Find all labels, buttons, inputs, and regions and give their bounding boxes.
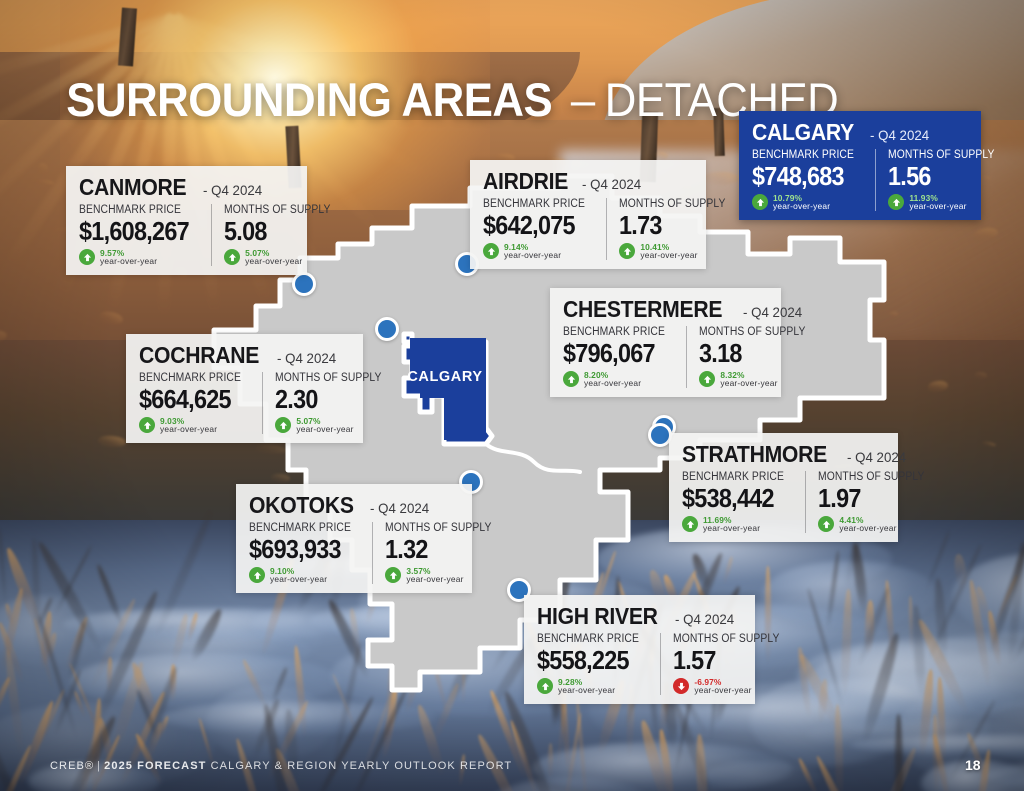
- page-title: SURROUNDING AREAS – DETACHED: [48, 72, 847, 127]
- card-metrics: BENCHMARK PRICE $1,608,267 9.57% year-ov…: [79, 204, 294, 266]
- yoy-sublabel: year-over-year: [100, 257, 157, 266]
- arrow-up-icon: [249, 567, 265, 583]
- metric-value: $642,075: [483, 212, 585, 239]
- metric-benchmark-price: BENCHMARK PRICE $796,067 8.20% year-over…: [563, 326, 686, 388]
- yoy-sublabel: year-over-year: [558, 686, 615, 695]
- metric-value: $664,625: [139, 386, 241, 413]
- yoy-sublabel: year-over-year: [504, 251, 561, 260]
- arrow-up-icon: [619, 243, 635, 259]
- yoy-group: -6.97% year-over-year: [673, 678, 791, 695]
- metric-value: 1.97: [818, 485, 924, 512]
- yoy-group: 11.69% year-over-year: [682, 516, 795, 533]
- card-header: STRATHMORE - Q4 2024: [682, 443, 885, 466]
- yoy-sublabel: year-over-year: [839, 524, 896, 533]
- metric-benchmark-price: BENCHMARK PRICE $693,933 9.10% year-over…: [249, 522, 372, 584]
- card-metrics: BENCHMARK PRICE $538,442 11.69% year-ove…: [682, 471, 885, 533]
- card-header: OKOTOKS - Q4 2024: [249, 494, 459, 517]
- city-name: CALGARY: [752, 121, 854, 144]
- yoy-group: 8.32% year-over-year: [699, 371, 817, 388]
- city-period: - Q4 2024: [370, 501, 429, 515]
- metric-months-of-supply: MONTHS OF SUPPLY 3.18 8.32% year-over-ye…: [686, 326, 817, 388]
- page-title-bold: SURROUNDING AREAS: [66, 72, 552, 127]
- yoy-sublabel: year-over-year: [270, 575, 327, 584]
- card-chestermere[interactable]: CHESTERMERE - Q4 2024 BENCHMARK PRICE $7…: [550, 288, 781, 397]
- metric-benchmark-price: BENCHMARK PRICE $1,608,267 9.57% year-ov…: [79, 204, 211, 266]
- footer-separator: |: [97, 760, 101, 772]
- arrow-up-icon: [818, 516, 834, 532]
- card-header: AIRDRIE - Q4 2024: [483, 170, 693, 193]
- city-period: - Q4 2024: [847, 450, 906, 464]
- yoy-text: 9.57% year-over-year: [100, 249, 157, 266]
- yoy-text: 11.93% year-over-year: [909, 194, 966, 211]
- yoy-sublabel: year-over-year: [296, 425, 353, 434]
- card-header: CALGARY - Q4 2024: [752, 121, 968, 144]
- card-strathmore[interactable]: STRATHMORE - Q4 2024 BENCHMARK PRICE $53…: [669, 433, 898, 542]
- card-metrics: BENCHMARK PRICE $748,683 10.79% year-ove…: [752, 149, 968, 211]
- metric-value: $796,067: [563, 340, 665, 367]
- metric-value: $693,933: [249, 536, 351, 563]
- yoy-group: 9.03% year-over-year: [139, 417, 252, 434]
- yoy-text: 4.41% year-over-year: [839, 516, 896, 533]
- metric-benchmark-price: BENCHMARK PRICE $642,075 9.14% year-over…: [483, 198, 606, 260]
- card-high-river[interactable]: HIGH RIVER - Q4 2024 BENCHMARK PRICE $55…: [524, 595, 755, 704]
- footer-rest: CALGARY & REGION YEARLY OUTLOOK REPORT: [211, 760, 513, 772]
- card-metrics: BENCHMARK PRICE $693,933 9.10% year-over…: [249, 522, 459, 584]
- card-header: COCHRANE - Q4 2024: [139, 344, 350, 367]
- arrow-up-icon: [483, 243, 499, 259]
- arrow-up-icon: [699, 371, 715, 387]
- city-period: - Q4 2024: [582, 177, 641, 191]
- city-name: HIGH RIVER: [537, 605, 658, 628]
- metric-value: 1.73: [619, 212, 725, 239]
- footer-brand: CREB®: [50, 760, 94, 772]
- yoy-text: 9.10% year-over-year: [270, 567, 327, 584]
- yoy-sublabel: year-over-year: [245, 257, 302, 266]
- arrow-up-icon: [563, 371, 579, 387]
- card-metrics: BENCHMARK PRICE $558,225 9.28% year-over…: [537, 633, 742, 695]
- map-dot-canmore[interactable]: [292, 272, 316, 296]
- yoy-text: 9.03% year-over-year: [160, 417, 217, 434]
- yoy-group: 8.20% year-over-year: [563, 371, 676, 388]
- metric-value: $1,608,267: [79, 218, 189, 245]
- metric-months-of-supply: MONTHS OF SUPPLY 1.56 11.93% year-over-y…: [875, 149, 1006, 211]
- map-calgary-label: CALGARY: [407, 369, 482, 385]
- city-name: CHESTERMERE: [563, 298, 722, 321]
- yoy-text: -6.97% year-over-year: [694, 678, 751, 695]
- yoy-text: 11.69% year-over-year: [703, 516, 760, 533]
- card-header: CHESTERMERE - Q4 2024: [563, 298, 768, 321]
- card-airdrie[interactable]: AIRDRIE - Q4 2024 BENCHMARK PRICE $642,0…: [470, 160, 706, 269]
- yoy-group: 10.79% year-over-year: [752, 194, 865, 211]
- metric-months-of-supply: MONTHS OF SUPPLY 5.08 5.07% year-over-ye…: [211, 204, 342, 266]
- yoy-text: 5.07% year-over-year: [245, 249, 302, 266]
- yoy-group: 5.07% year-over-year: [275, 417, 393, 434]
- metric-months-of-supply: MONTHS OF SUPPLY 2.30 5.07% year-over-ye…: [262, 372, 393, 434]
- yoy-sublabel: year-over-year: [773, 202, 830, 211]
- yoy-text: 3.57% year-over-year: [406, 567, 463, 584]
- city-period: - Q4 2024: [203, 183, 262, 197]
- map-dot-cochrane[interactable]: [375, 317, 399, 341]
- arrow-up-icon: [275, 417, 291, 433]
- city-name: CANMORE: [79, 176, 186, 199]
- yoy-sublabel: year-over-year: [160, 425, 217, 434]
- yoy-group: 10.41% year-over-year: [619, 243, 737, 260]
- metric-value: $558,225: [537, 647, 639, 674]
- card-calgary[interactable]: CALGARY - Q4 2024 BENCHMARK PRICE $748,6…: [739, 111, 981, 220]
- arrow-up-icon: [752, 194, 768, 210]
- metric-value: 1.56: [888, 163, 994, 190]
- arrow-up-icon: [385, 567, 401, 583]
- metric-benchmark-price: BENCHMARK PRICE $538,442 11.69% year-ove…: [682, 471, 805, 533]
- metric-months-of-supply: MONTHS OF SUPPLY 1.73 10.41% year-over-y…: [606, 198, 737, 260]
- yoy-group: 5.07% year-over-year: [224, 249, 342, 266]
- metric-months-of-supply: MONTHS OF SUPPLY 1.32 3.57% year-over-ye…: [372, 522, 503, 584]
- card-cochrane[interactable]: COCHRANE - Q4 2024 BENCHMARK PRICE $664,…: [126, 334, 363, 443]
- card-metrics: BENCHMARK PRICE $796,067 8.20% year-over…: [563, 326, 768, 388]
- metric-benchmark-price: BENCHMARK PRICE $664,625 9.03% year-over…: [139, 372, 262, 434]
- yoy-text: 10.79% year-over-year: [773, 194, 830, 211]
- footer-bar: CREB®|2025 FORECAST CALGARY & REGION YEA…: [50, 760, 512, 772]
- city-name: COCHRANE: [139, 344, 259, 367]
- city-period: - Q4 2024: [675, 612, 734, 626]
- card-header: CANMORE - Q4 2024: [79, 176, 294, 199]
- card-okotoks[interactable]: OKOTOKS - Q4 2024 BENCHMARK PRICE $693,9…: [236, 484, 472, 593]
- city-period: - Q4 2024: [870, 128, 929, 142]
- yoy-sublabel: year-over-year: [909, 202, 966, 211]
- arrow-up-icon: [139, 417, 155, 433]
- metric-value: 2.30: [275, 386, 381, 413]
- card-canmore[interactable]: CANMORE - Q4 2024 BENCHMARK PRICE $1,608…: [66, 166, 307, 275]
- metric-value: 3.18: [699, 340, 805, 367]
- arrow-up-icon: [888, 194, 904, 210]
- yoy-group: 9.10% year-over-year: [249, 567, 362, 584]
- arrow-up-icon: [224, 249, 240, 265]
- yoy-group: 11.93% year-over-year: [888, 194, 1006, 211]
- yoy-sublabel: year-over-year: [694, 686, 751, 695]
- metric-value: $748,683: [752, 163, 854, 190]
- page-number: 18: [965, 757, 981, 773]
- yoy-sublabel: year-over-year: [720, 379, 777, 388]
- yoy-text: 8.32% year-over-year: [720, 371, 777, 388]
- city-name: AIRDRIE: [483, 170, 568, 193]
- yoy-text: 5.07% year-over-year: [296, 417, 353, 434]
- footer-strong: 2025 FORECAST: [104, 760, 206, 772]
- metric-months-of-supply: MONTHS OF SUPPLY 1.57 -6.97% year-over-y…: [660, 633, 791, 695]
- yoy-group: 3.57% year-over-year: [385, 567, 503, 584]
- metric-value: 1.57: [673, 647, 779, 674]
- city-name: STRATHMORE: [682, 443, 827, 466]
- slide-root: CALGARY SURROUNDING AREAS – DETACHED CAL…: [0, 0, 1024, 791]
- card-metrics: BENCHMARK PRICE $642,075 9.14% year-over…: [483, 198, 693, 260]
- metric-value: $538,442: [682, 485, 784, 512]
- yoy-group: 9.14% year-over-year: [483, 243, 596, 260]
- page-title-dash: –: [571, 72, 595, 127]
- yoy-text: 10.41% year-over-year: [640, 243, 697, 260]
- arrow-down-icon: [673, 678, 689, 694]
- metric-benchmark-price: BENCHMARK PRICE $748,683 10.79% year-ove…: [752, 149, 875, 211]
- city-name: OKOTOKS: [249, 494, 354, 517]
- yoy-text: 9.28% year-over-year: [558, 678, 615, 695]
- yoy-group: 4.41% year-over-year: [818, 516, 936, 533]
- city-period: - Q4 2024: [743, 305, 802, 319]
- yoy-sublabel: year-over-year: [640, 251, 697, 260]
- metric-value: 5.08: [224, 218, 330, 245]
- card-header: HIGH RIVER - Q4 2024: [537, 605, 742, 628]
- yoy-text: 9.14% year-over-year: [504, 243, 561, 260]
- yoy-group: 9.28% year-over-year: [537, 678, 650, 695]
- metric-benchmark-price: BENCHMARK PRICE $558,225 9.28% year-over…: [537, 633, 660, 695]
- yoy-text: 8.20% year-over-year: [584, 371, 641, 388]
- yoy-group: 9.57% year-over-year: [79, 249, 201, 266]
- card-metrics: BENCHMARK PRICE $664,625 9.03% year-over…: [139, 372, 350, 434]
- metric-value: 1.32: [385, 536, 491, 563]
- yoy-sublabel: year-over-year: [584, 379, 641, 388]
- arrow-up-icon: [537, 678, 553, 694]
- metric-months-of-supply: MONTHS OF SUPPLY 1.97 4.41% year-over-ye…: [805, 471, 936, 533]
- arrow-up-icon: [682, 516, 698, 532]
- city-period: - Q4 2024: [277, 351, 336, 365]
- yoy-sublabel: year-over-year: [406, 575, 463, 584]
- yoy-sublabel: year-over-year: [703, 524, 760, 533]
- arrow-up-icon: [79, 249, 95, 265]
